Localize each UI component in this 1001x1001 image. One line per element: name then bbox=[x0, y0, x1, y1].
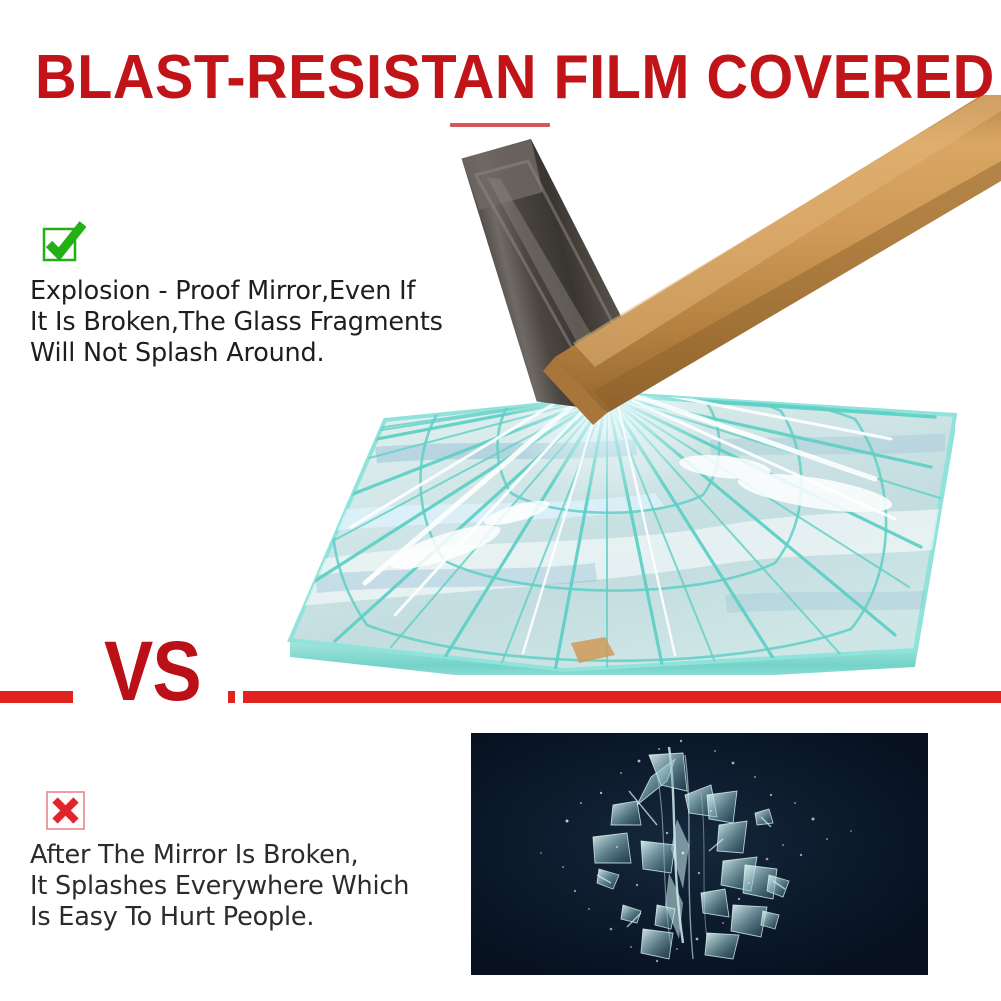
positive-line-1: Explosion - Proof Mirror,Even If bbox=[30, 276, 450, 307]
title-underline-rule bbox=[450, 123, 550, 127]
versus-label: VS bbox=[104, 629, 201, 713]
positive-line-3: Will Not Splash Around. bbox=[30, 338, 450, 369]
hammer-striking-laminated-glass-photo bbox=[255, 95, 1001, 675]
divider-bar-left bbox=[0, 691, 73, 703]
page-title: BLAST-RESISTAN FILM COVERED bbox=[35, 46, 966, 109]
infographic-page: BLAST-RESISTAN FILM COVERED Explosion - … bbox=[0, 0, 1001, 1001]
hammer-handle bbox=[543, 95, 1001, 425]
negative-description: After The Mirror Is Broken, It Splashes … bbox=[30, 840, 450, 933]
positive-description: Explosion - Proof Mirror,Even If It Is B… bbox=[30, 276, 450, 369]
divider-bar-right bbox=[243, 691, 1001, 703]
negative-line-3: Is Easy To Hurt People. bbox=[30, 902, 450, 933]
shattered-glass-dark-photo bbox=[471, 733, 928, 975]
negative-line-2: It Splashes Everywhere Which bbox=[30, 871, 450, 902]
positive-line-2: It Is Broken,The Glass Fragments bbox=[30, 307, 450, 338]
red-cross-icon bbox=[46, 791, 86, 831]
green-check-icon bbox=[42, 221, 86, 263]
shattered-glass-illustration bbox=[471, 733, 928, 975]
negative-line-1: After The Mirror Is Broken, bbox=[30, 840, 450, 871]
divider-bar-tick bbox=[228, 691, 235, 703]
hammer-glass-illustration bbox=[255, 95, 1001, 675]
